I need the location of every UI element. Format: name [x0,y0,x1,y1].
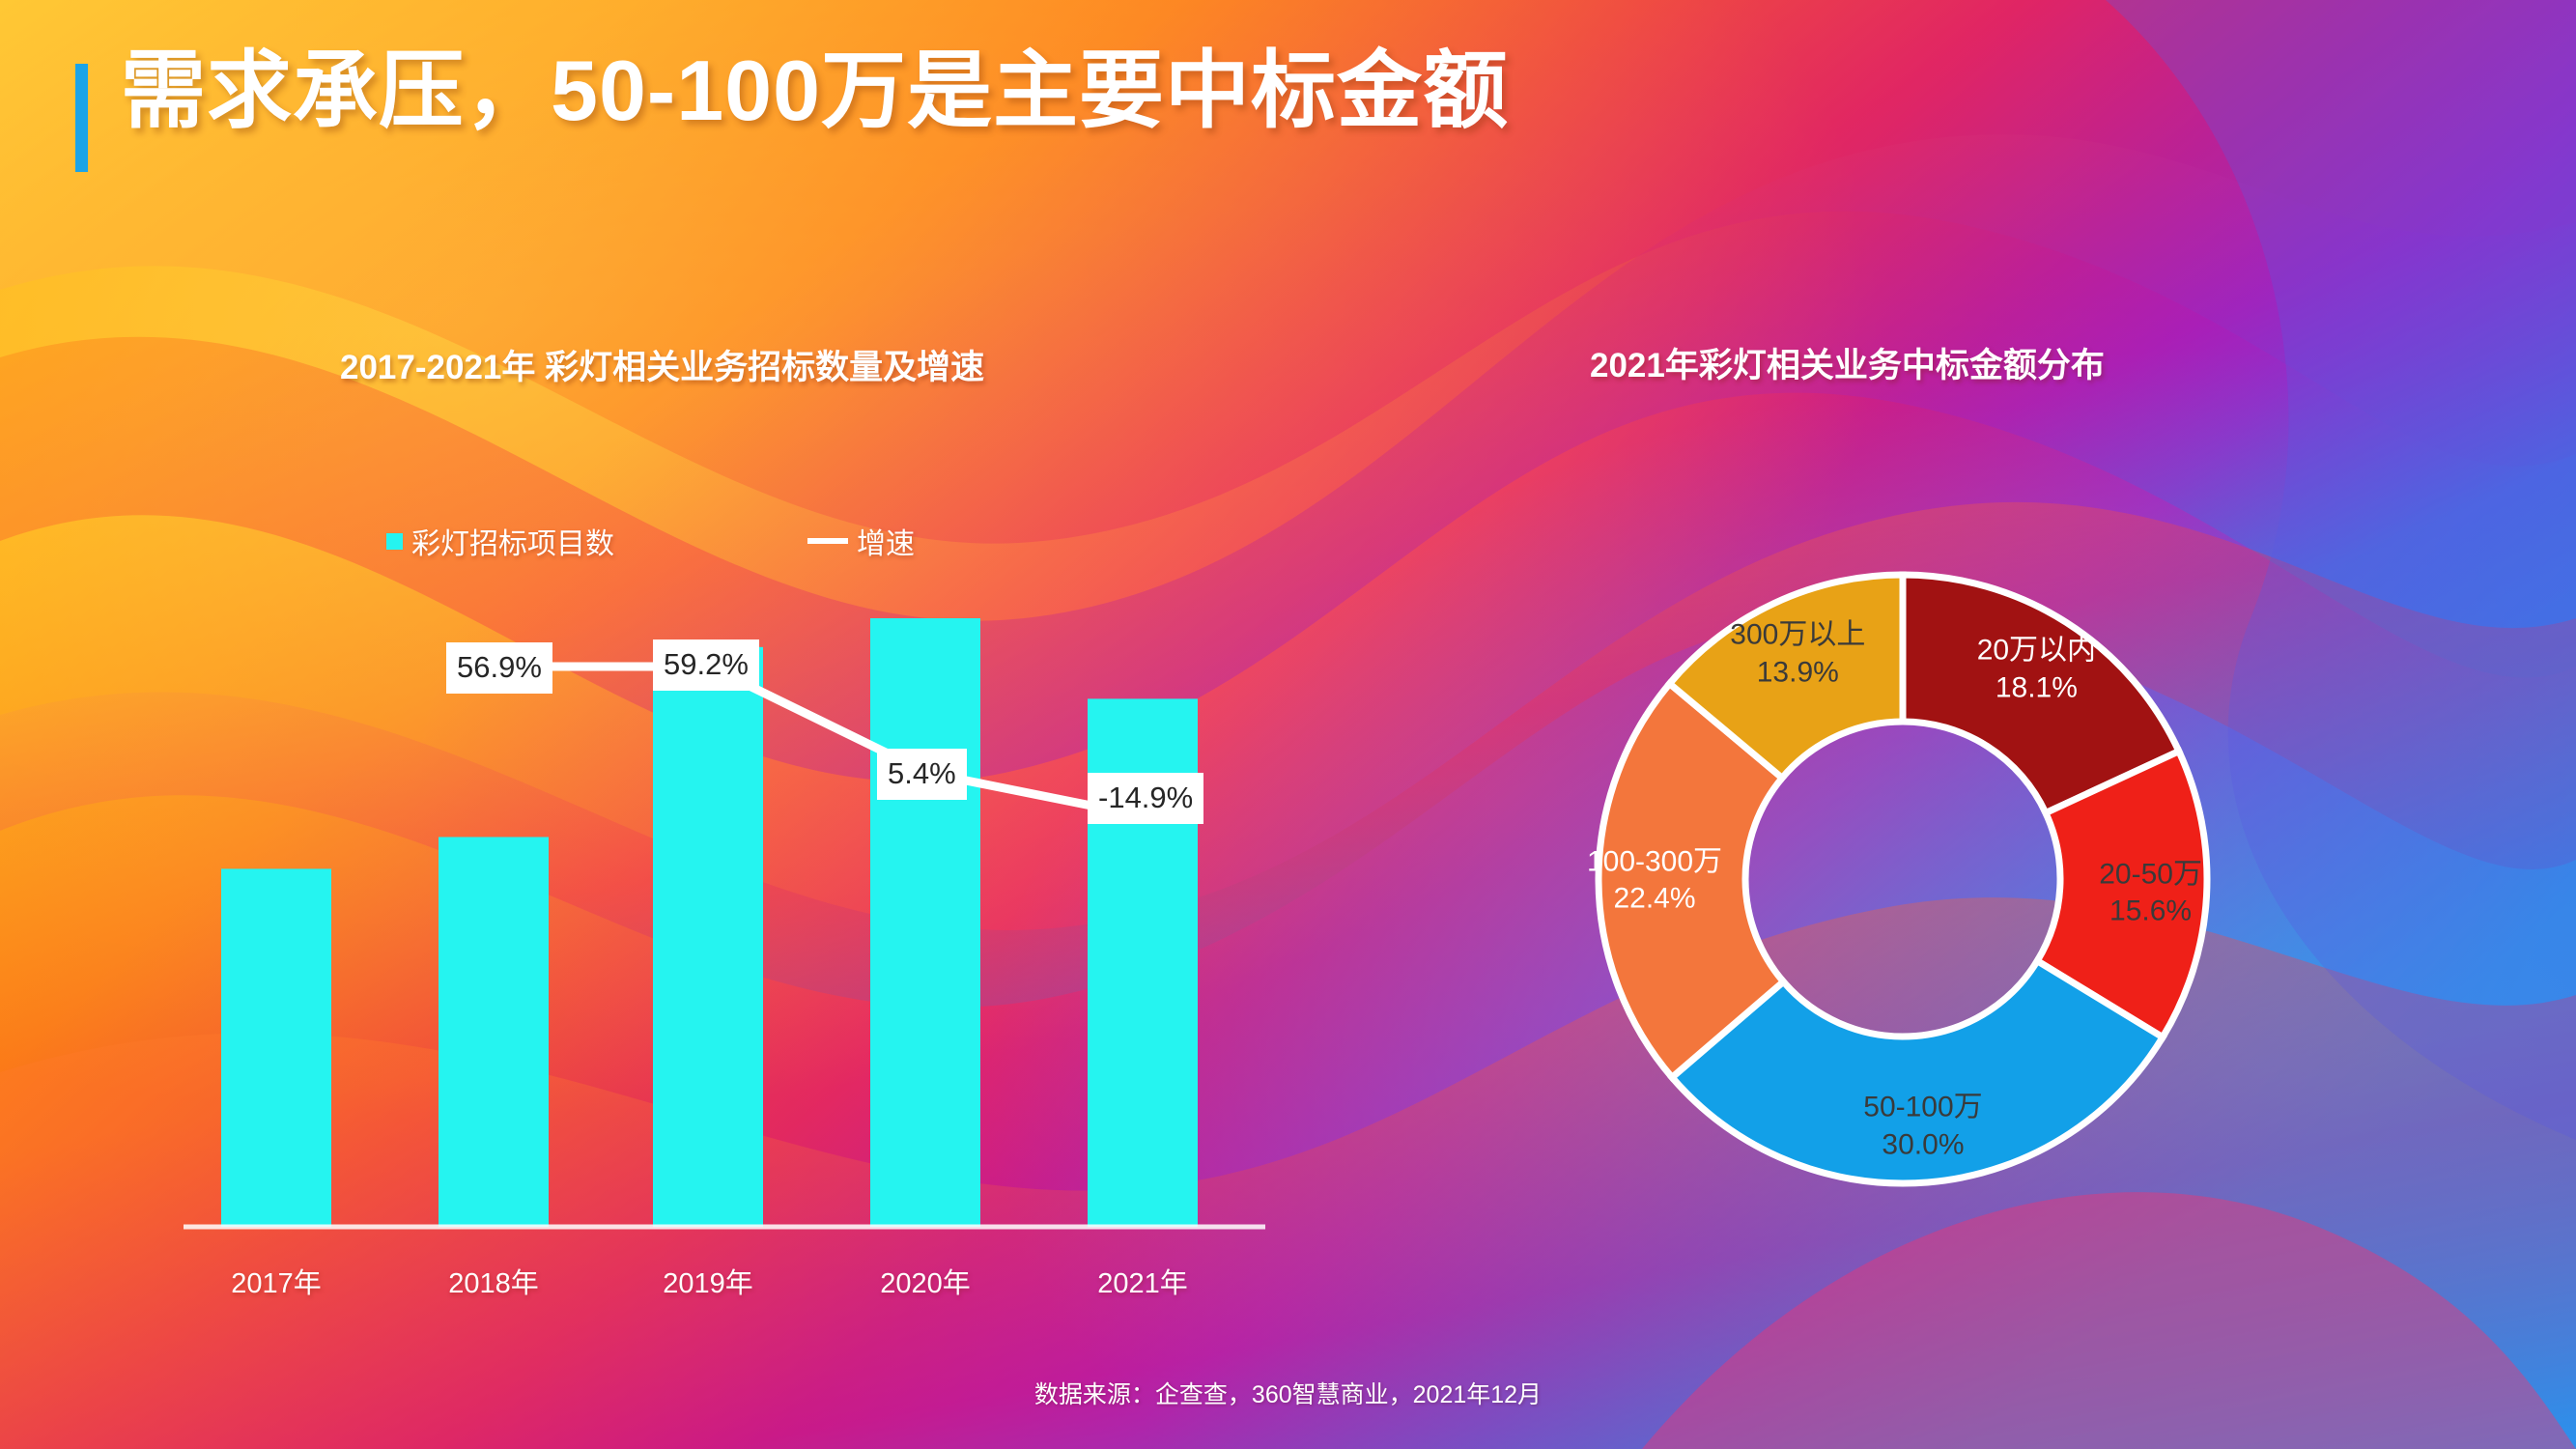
donut-slice-name: 50-100万 [1863,1092,1982,1123]
donut-slice-label: 20-50万15.6% [2099,856,2202,930]
growth-value-label: 59.2% [653,639,759,691]
page-title-block: 需求承压，50-100万是主要中标金额 [75,46,1509,172]
donut-slice-label: 300万以上13.9% [1730,617,1865,692]
x-axis-label: 2020年 [880,1261,971,1301]
donut-slice-name: 20万以内 [1977,635,2096,667]
bar-chart-title: 2017-2021年 彩灯相关业务招标数量及增速 [340,340,984,389]
donut-slice-name: 20-50万 [2099,858,2202,890]
bar[interactable] [653,647,763,1227]
donut-slice-percent: 18.1% [1977,669,2096,706]
donut-slice-label: 50-100万30.0% [1863,1090,1982,1164]
title-accent-bar [75,64,88,172]
bar[interactable] [870,618,980,1227]
x-axis-label: 2018年 [448,1261,539,1301]
x-axis-label: 2019年 [663,1261,753,1301]
donut-slice-name: 300万以上 [1730,619,1865,651]
x-axis-label: 2017年 [231,1261,322,1301]
legend-item-bars[interactable]: 彩灯招标项目数 [386,520,614,562]
donut-slice-name: 100-300万 [1587,845,1722,877]
bar[interactable] [439,837,549,1227]
donut-slice-label: 100-300万22.4% [1587,843,1722,918]
growth-value-label: 5.4% [877,749,967,800]
donut-slice-label: 20万以内18.1% [1977,633,2096,707]
x-axis-label: 2021年 [1097,1261,1188,1301]
legend-item-growth[interactable]: 增速 [807,520,915,562]
bar-chart-legend: 彩灯招标项目数 增速 [386,520,915,562]
square-marker-icon [386,533,403,550]
bar-series [221,618,1198,1227]
legend-label-growth: 增速 [857,520,915,562]
line-marker-icon [807,538,848,544]
growth-value-label: -14.9% [1088,773,1203,824]
donut-chart-title: 2021年彩灯相关业务中标金额分布 [1590,338,2105,387]
page-title: 需求承压，50-100万是主要中标金额 [121,46,1509,135]
legend-label-bars: 彩灯招标项目数 [411,520,614,562]
data-source-footer: 数据来源：企查查，360智慧商业，2021年12月 [0,1376,2576,1410]
bar[interactable] [221,868,331,1227]
donut-slice-percent: 15.6% [2099,894,2202,930]
donut-slice-percent: 30.0% [1863,1126,1982,1163]
growth-line-series [502,667,1145,816]
donut-slice-percent: 13.9% [1730,654,1865,691]
donut-slice-percent: 22.4% [1587,881,1722,918]
growth-value-label: 56.9% [446,642,552,694]
